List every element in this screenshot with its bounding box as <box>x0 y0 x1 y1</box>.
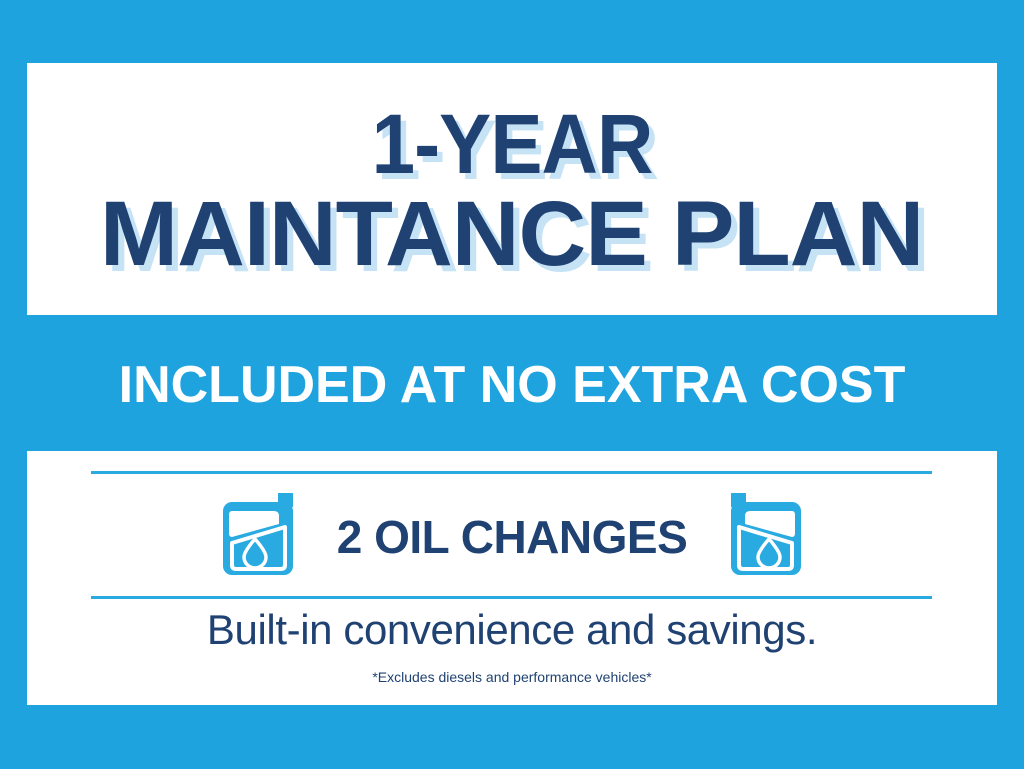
details-content: 2 OIL CHANGES Built-in convenience and s… <box>27 451 997 705</box>
page-title: 1-YEAR MAINTANCE PLAN <box>27 63 997 315</box>
oil-jug-icon <box>221 493 297 582</box>
divider-top <box>91 471 932 474</box>
oil-jug-icon <box>727 493 803 582</box>
promotional-poster: 1-YEAR MAINTANCE PLAN INCLUDED AT NO EXT… <box>0 0 1024 769</box>
divider-bottom <box>91 596 932 599</box>
subheading-text: INCLUDED AT NO EXTRA COST <box>119 355 906 415</box>
disclaimer-text: *Excludes diesels and performance vehicl… <box>27 669 997 685</box>
headline-line-2: MAINTANCE PLAN <box>100 190 923 278</box>
headline-line-1: 1-YEAR <box>372 104 653 185</box>
feature-label: 2 OIL CHANGES <box>337 510 688 564</box>
tagline: Built-in convenience and savings. <box>27 606 997 654</box>
subheading-band: INCLUDED AT NO EXTRA COST <box>27 330 997 440</box>
feature-row: 2 OIL CHANGES <box>27 481 997 593</box>
